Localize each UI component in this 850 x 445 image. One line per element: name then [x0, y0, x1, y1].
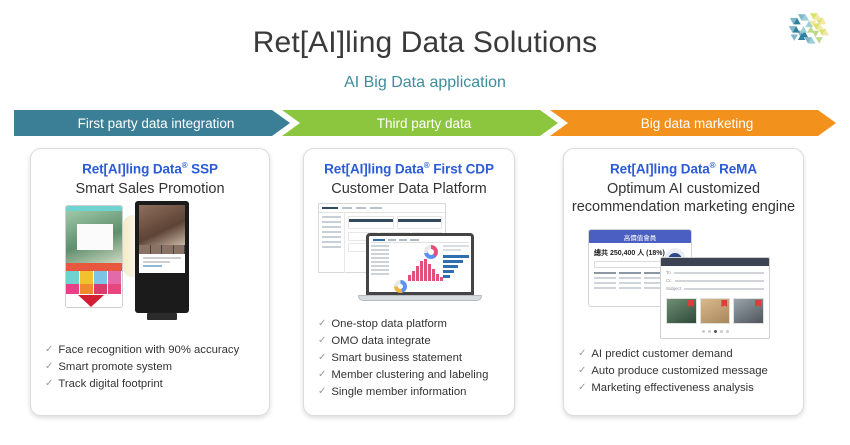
check-icon: ✓	[578, 363, 586, 379]
check-icon: ✓	[318, 350, 326, 366]
phone-banner-strip	[66, 263, 122, 271]
feature-list-rema: ✓ AI predict customer demand ✓ Auto prod…	[578, 346, 795, 397]
list-item: ✓ Smart business statement	[318, 350, 506, 366]
page-title: Ret[AI]ling Data Solutions	[0, 26, 850, 60]
donut-chart	[424, 245, 438, 259]
kpi-box	[397, 216, 443, 229]
digital-signage-kiosk	[135, 201, 189, 313]
kiosk-caption	[139, 254, 185, 272]
check-icon: ✓	[578, 380, 586, 396]
card-title-text: Ret[AI]ling Data	[610, 162, 710, 177]
check-icon: ✓	[578, 346, 586, 362]
card-title-text: Ret[AI]ling Data	[324, 162, 424, 177]
kiosk-thumbnail-strip	[139, 245, 185, 254]
banner-step-first-party[interactable]: First party data integration	[14, 110, 290, 136]
card-title: Ret[AI]ling Data® ReMA	[564, 161, 803, 177]
check-icon: ✓	[318, 333, 326, 349]
list-item-label: AI predict customer demand	[591, 346, 732, 362]
dashboard-toolbar	[319, 204, 445, 213]
list-item-label: Single member information	[331, 384, 466, 400]
card-title: Ret[AI]ling Data® SSP	[31, 161, 269, 177]
check-icon: ✓	[45, 359, 53, 375]
laptop-base	[358, 295, 482, 301]
carousel-pagination[interactable]	[661, 326, 769, 333]
check-icon: ✓	[318, 316, 326, 332]
list-item-label: Smart business statement	[331, 350, 462, 366]
donut-chart-secondary	[394, 280, 407, 293]
laptop-screen	[366, 233, 474, 295]
check-icon: ✓	[45, 342, 53, 358]
email-composer-window: To Cc Subject	[660, 257, 770, 339]
email-cc-field[interactable]: Cc	[666, 278, 764, 283]
card-title-text: Ret[AI]ling Data	[82, 162, 182, 177]
list-item: ✓ OMO data integrate	[318, 333, 506, 349]
list-item: ✓ Auto produce customized message	[578, 363, 795, 379]
list-item: ✓ Smart promote system	[45, 359, 261, 375]
email-subject-field[interactable]: Subject	[666, 286, 764, 291]
kiosk-base	[147, 313, 177, 320]
slide-root: Ret[AI]ling Data Solutions AI Big Data a…	[0, 0, 850, 445]
process-banner: First party data integration Third party…	[14, 110, 836, 136]
illustration-rema-screens: 高價值會員 總共 250,400 人 (18%) To Cc Subject	[564, 227, 803, 339]
list-item-label: OMO data integrate	[331, 333, 430, 349]
phone-icon-row	[66, 271, 122, 284]
card-header: Ret[AI]ling Data® SSP Smart Sales Promot…	[31, 149, 269, 198]
check-icon: ✓	[318, 367, 326, 383]
card-title-suffix: First CDP	[430, 162, 494, 177]
card-title: Ret[AI]ling Data® First CDP	[304, 161, 514, 177]
card-header: Ret[AI]ling Data® First CDP Customer Dat…	[304, 149, 514, 198]
list-item: ✓ Track digital footprint	[45, 376, 261, 392]
laptop-side-charts	[443, 245, 469, 293]
phone-hero-image	[66, 211, 122, 263]
product-thumbnail	[733, 298, 764, 324]
list-item-label: Member clustering and labeling	[331, 367, 488, 383]
card-header: Ret[AI]ling Data® ReMA Optimum AI custom…	[564, 149, 803, 216]
list-item: ✓ Single member information	[318, 384, 506, 400]
smartphone-mockup	[65, 205, 123, 308]
product-thumbnail	[666, 298, 697, 324]
feature-list-cdp: ✓ One-stop data platform ✓ OMO data inte…	[318, 316, 506, 401]
member-panel-header: 高價值會員	[589, 230, 691, 243]
phone-tile-grid	[66, 284, 122, 294]
check-icon: ✓	[318, 384, 326, 400]
dashboard-sidebar	[319, 213, 345, 273]
list-item: ✓ AI predict customer demand	[578, 346, 795, 362]
list-item-label: Marketing effectiveness analysis	[591, 380, 753, 396]
kiosk-model-photo	[139, 205, 185, 245]
list-item-label: Face recognition with 90% accuracy	[58, 342, 239, 358]
dashboard-kpi-row	[348, 216, 442, 229]
laptop-app-sidebar	[371, 245, 389, 293]
histogram-chart	[408, 259, 443, 281]
email-to-field[interactable]: To	[666, 270, 764, 275]
list-item: ✓ Member clustering and labeling	[318, 367, 506, 383]
kiosk-screen	[139, 205, 185, 273]
card-subtitle: Customer Data Platform	[304, 180, 514, 198]
feature-list-ssp: ✓ Face recognition with 90% accuracy ✓ S…	[45, 342, 261, 393]
laptop-app-body	[371, 243, 469, 293]
list-item: ✓ One-stop data platform	[318, 316, 506, 332]
email-title-bar	[661, 258, 769, 266]
bar-chart	[443, 255, 469, 278]
laptop-charts-area	[392, 245, 440, 293]
banner-step-big-data-marketing[interactable]: Big data marketing	[550, 110, 836, 136]
illustration-ssp-devices	[31, 201, 269, 319]
page-subtitle: AI Big Data application	[0, 74, 850, 92]
banner-step-third-party[interactable]: Third party data	[282, 110, 558, 136]
kpi-box	[348, 216, 394, 229]
list-item-label: Track digital footprint	[58, 376, 162, 392]
card-title-suffix: SSP	[188, 162, 218, 177]
email-fields: To Cc Subject	[661, 266, 769, 296]
list-item-label: One-stop data platform	[331, 316, 447, 332]
recommended-products	[661, 296, 769, 326]
list-item-label: Smart promote system	[58, 359, 172, 375]
list-item-label: Auto produce customized message	[591, 363, 767, 379]
laptop-mockup	[366, 233, 474, 301]
banner-step-label: Big data marketing	[633, 116, 754, 131]
card-subtitle: Optimum AI customized recommendation mar…	[564, 180, 803, 216]
card-subtitle: Smart Sales Promotion	[31, 180, 269, 198]
check-icon: ✓	[45, 376, 53, 392]
banner-step-label: Third party data	[369, 116, 472, 131]
phone-promo-card	[77, 224, 113, 250]
banner-step-label: First party data integration	[70, 116, 235, 131]
illustration-cdp-dashboard	[304, 201, 514, 313]
card-first-cdp[interactable]: Ret[AI]ling Data® First CDP Customer Dat…	[303, 148, 515, 416]
card-title-suffix: ReMA	[715, 162, 757, 177]
card-rema[interactable]: Ret[AI]ling Data® ReMA Optimum AI custom…	[563, 148, 804, 416]
list-item: ✓ Face recognition with 90% accuracy	[45, 342, 261, 358]
card-ssp[interactable]: Ret[AI]ling Data® SSP Smart Sales Promot…	[30, 148, 270, 416]
product-thumbnail	[700, 298, 731, 324]
list-item: ✓ Marketing effectiveness analysis	[578, 380, 795, 396]
phone-footer	[66, 294, 122, 308]
